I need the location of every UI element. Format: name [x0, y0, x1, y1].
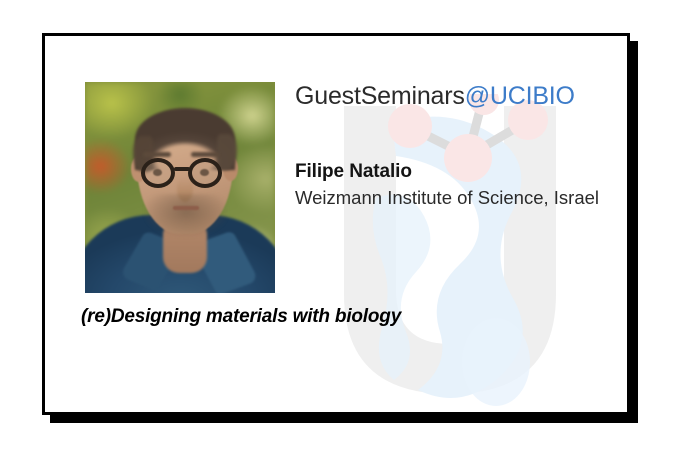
seminar-series-title-plain: GuestSeminars [295, 82, 465, 110]
portrait-eyebrow-left [143, 152, 171, 157]
portrait-eyeglass-lens-left [141, 158, 175, 188]
portrait-eyeglass-bridge [174, 167, 190, 171]
talk-title: (re)Designing materials with biology [81, 306, 401, 328]
portrait-eyebrow-right [191, 152, 219, 157]
card-text-column: GuestSeminars@UCIBIO Filipe Natalio Weiz… [295, 82, 615, 211]
poster-canvas: GuestSeminars@UCIBIO Filipe Natalio Weiz… [0, 0, 690, 452]
speaker-name: Filipe Natalio [295, 160, 615, 185]
speaker-affiliation: Weizmann Institute of Science, Israel [295, 186, 600, 210]
portrait-eyeglass-lens-right [188, 158, 222, 188]
portrait-beard [145, 194, 227, 238]
speaker-portrait-photo [85, 82, 275, 293]
seminar-series-title: GuestSeminars@UCIBIO [295, 82, 615, 111]
portrait-mouth [173, 206, 199, 210]
seminar-announcement-card: GuestSeminars@UCIBIO Filipe Natalio Weiz… [42, 33, 630, 415]
seminar-series-title-brand: @UCIBIO [465, 82, 575, 110]
speaker-block: Filipe Natalio Weizmann Institute of Sci… [295, 160, 615, 211]
